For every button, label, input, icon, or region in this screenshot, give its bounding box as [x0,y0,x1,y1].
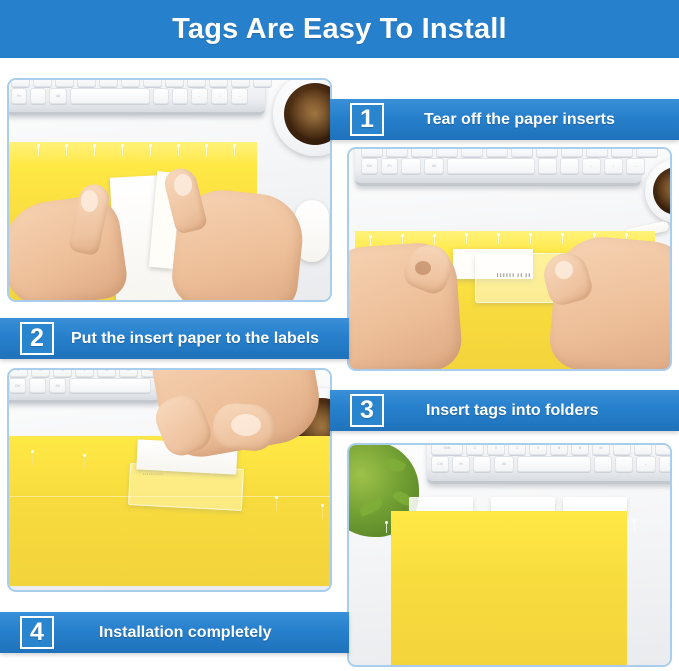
step-bar-4: 4 Installation completely [0,612,349,653]
keyboard-key: Fn [381,158,398,174]
folder-hook-stem [530,236,531,244]
keyboard-key [536,149,558,157]
keyboard: Ctrl Fn Alt ← ↓ → [355,149,641,186]
folder-hook-stem [466,236,467,244]
step-number-4: 4 [20,616,54,649]
keyboard-row-top [11,80,272,87]
keyboard-row-bottom: Ctrl Fn Alt ← ↑ → [431,456,670,472]
folder-hook-stem [84,457,85,469]
folder-hook-stem [276,499,277,511]
keyboard-key [401,158,421,174]
keyboard-key: N [119,370,138,377]
scene-1: Fn Alt ← ↓ → [9,80,330,300]
step-label-4: Installation completely [99,624,271,642]
keyboard-key: ↓ [211,88,228,104]
keyboard-key [77,80,96,87]
keyboard-key: X [31,370,50,377]
keyboard-key: M [592,445,610,455]
keyboard-key: Z [9,370,28,377]
keyboard-key [99,80,118,87]
folder-hook-stem [322,507,323,519]
keyboard-key: ↑ [659,456,670,472]
keyboard-key: , [613,445,631,455]
keyboard-key [153,88,169,104]
header-banner: Tags Are Easy To Install [0,0,679,58]
coffee-liquid [653,167,670,215]
keyboard-key: Shift [431,445,463,455]
left-thumb-nail [415,261,431,275]
keyboard-key [586,149,608,157]
folder-hook-stem [634,522,635,531]
folder-rail [9,142,257,164]
keyboard: Z X C V B N M Ctrl Alt [9,370,161,403]
folder-hook-stem [32,453,33,465]
folder-hook-stem [178,147,179,156]
folder-hook-stem [434,237,435,245]
keyboard-key: ↓ [604,158,623,174]
keyboard-key-space [517,456,591,472]
keyboard-key [411,149,433,157]
folder-hook-stem [234,147,235,156]
scene-3: Z X C V B N M Ctrl Alt [9,370,330,590]
keyboard-key [615,456,633,472]
keyboard-row-bottom: Ctrl Fn Alt ← ↓ → [361,158,645,174]
keyboard-key [187,80,206,87]
keyboard-key: Fn [11,88,27,104]
coffee-crema [657,171,670,211]
step-bar-2: 2 Put the insert paper to the labels [0,318,349,359]
infographic-stage: Tags Are Easy To Install [0,0,679,671]
keyboard-key [560,158,579,174]
keyboard-key: Alt [424,158,444,174]
keyboard: Shift Z X C V B N M , . Shift Ctrl Fn Al… [427,445,670,484]
photo-insert-tags-into-folders: Z X C V B N M Ctrl Alt [7,368,332,592]
keyboard-key: C [53,370,72,377]
keyboard-key: Alt [494,456,514,472]
keyboard-key [121,80,140,87]
keyboard-key: X [487,445,505,455]
photo-installation-completely: Shift Z X C V B N M , . Shift Ctrl Fn Al… [347,443,672,667]
folder-hook-stem [94,147,95,156]
folder-hook-stem [38,147,39,156]
thumb-nail [231,414,261,436]
step-label-3: Insert tags into folders [426,402,598,420]
keyboard-key [11,80,30,87]
keyboard-row-top: Z X C V B N M [9,370,160,377]
step-number-3: 3 [350,394,384,427]
keyboard-key [511,149,533,157]
keyboard-key [55,80,74,87]
keyboard-key: → [231,88,248,104]
keyboard-row-top: Shift Z X C V B N M , . Shift [431,445,670,455]
keyboard-key: Ctrl [361,158,378,174]
keyboard-key: Fn [452,456,470,472]
step-number-2: 2 [20,322,54,355]
keyboard-row-bottom: Fn Alt ← ↓ → [11,88,248,104]
keyboard-key: . [634,445,652,455]
keyboard-key: N [571,445,589,455]
keyboard-key [473,456,491,472]
step-label-2: Put the insert paper to the labels [71,330,319,348]
scene-4: Shift Z X C V B N M , . Shift Ctrl Fn Al… [349,445,670,665]
folder-hook-stem [370,238,371,246]
keyboard-key [594,456,612,472]
keyboard-key: ← [191,88,208,104]
folder-body [391,511,627,665]
folder-hook-stem [498,236,499,244]
photo-put-insert-paper-to-labels: Ctrl Fn Alt ← ↓ → [347,147,672,371]
keyboard-key [30,88,46,104]
keyboard-key: Ctrl [431,456,449,472]
step-bar-1: 1 Tear off the paper inserts [330,99,679,140]
keyboard-key: Z [466,445,484,455]
keyboard-key [253,80,272,87]
keyboard-row-top [361,149,658,157]
keyboard-key: ← [582,158,601,174]
scene-2: Ctrl Fn Alt ← ↓ → [349,149,670,369]
keyboard-key [143,80,162,87]
keyboard-key [386,149,408,157]
step-label-1: Tear off the paper inserts [424,111,615,129]
keyboard-key: V [75,370,94,377]
keyboard-key [611,149,633,157]
keyboard-key: Alt [49,378,66,393]
folder-hook-stem [562,236,563,244]
folder-hook-stem [122,147,123,156]
keyboard-key: → [626,158,645,174]
keyboard: Fn Alt ← ↓ → [9,80,265,115]
step-number-1: 1 [350,103,384,136]
keyboard-key [436,149,458,157]
left-thumb-nail [81,190,98,212]
right-thumb-nail [555,261,573,279]
keyboard-key: Ctrl [9,378,26,393]
coffee-liquid [284,83,330,145]
keyboard-key-space [69,378,151,393]
keyboard-key [33,80,52,87]
keyboard-key [461,149,483,157]
tag-insert-text: ▪▪▪▪▪▪▪▪▪▪ [143,472,164,476]
folder-hook-stem [150,147,151,156]
keyboard-key: C [508,445,526,455]
keyboard-key [561,149,583,157]
keyboard-key [231,80,250,87]
folder-hook-stem [66,147,67,156]
keyboard-key [165,80,184,87]
step-bar-3: 3 Insert tags into folders [330,390,679,431]
tag-insert-text: ▌▌▌▌▌▌ ▌▌ ▌▌ [497,273,532,277]
keyboard-key: V [529,445,547,455]
photo-tear-off-paper-inserts: Fn Alt ← ↓ → [7,78,332,302]
coffee-crema [290,89,330,139]
keyboard-key: B [97,370,116,377]
keyboard-key: Alt [49,88,67,104]
keyboard-key [361,149,383,157]
keyboard-row-bottom: Ctrl Alt [9,378,151,393]
keyboard-key [486,149,508,157]
keyboard-key [172,88,188,104]
right-thumb-nail [174,174,192,196]
keyboard-key: B [550,445,568,455]
keyboard-key: Shift [655,445,670,455]
keyboard-key [209,80,228,87]
page-title: Tags Are Easy To Install [0,0,679,58]
folder-hook-stem [386,524,387,533]
keyboard-key [538,158,557,174]
keyboard-key: ← [636,456,656,472]
keyboard-key [636,149,658,157]
keyboard-key [29,378,46,393]
keyboard-key-space [70,88,150,104]
folder-hook-stem [206,147,207,156]
keyboard-key-space [447,158,535,174]
